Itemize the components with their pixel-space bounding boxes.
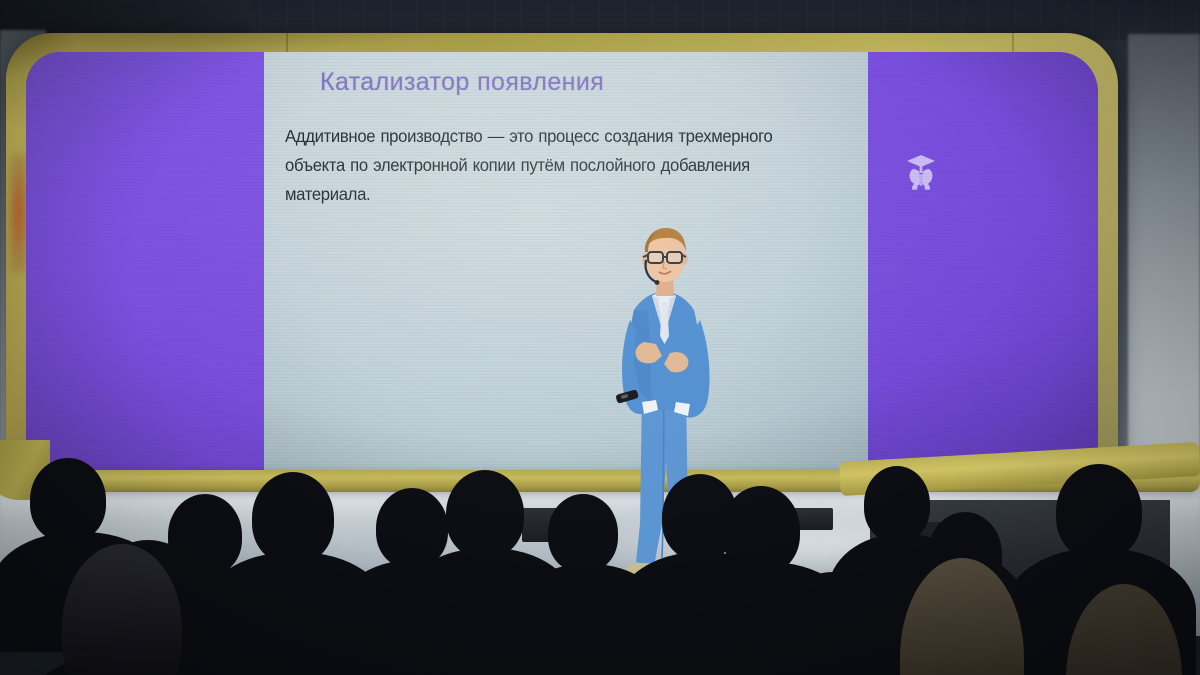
presenter-figure [596,224,736,586]
slide-body-line-1: Аддитивное производство — это процесс со… [285,122,832,151]
console-slot [910,522,944,552]
presentation-stage-scene: 4 8 Катализатор появления Аддитивное про… [0,0,1200,675]
slide-vignette [264,52,868,480]
stage-monitor-box [785,508,833,530]
dark-av-equipment-console [870,500,1170,610]
slide-title: Катализатор появления [320,68,604,97]
console-indicator-led [932,578,937,583]
slide-body-text: Аддитивное производство — это процесс со… [285,122,832,209]
gold-base-band-left-curve [0,440,50,500]
led-panel: 4 8 Катализатор появления Аддитивное про… [26,52,1098,480]
stage-speaker-box [522,508,588,542]
console-slot [956,522,990,552]
university-graduation-cap-emblem: 4 [901,152,941,196]
svg-text:4: 4 [919,179,923,187]
audience-shoulders [14,648,282,675]
slide-body-line-2: объекта по электронной копии путём посло… [285,151,832,209]
audience-shoulders [832,664,1106,675]
presentation-slide: Катализатор появления Аддитивное произво… [264,52,868,480]
audience-shoulders [578,660,830,675]
led-video-wall-frame: 4 8 Катализатор появления Аддитивное про… [6,33,1118,485]
